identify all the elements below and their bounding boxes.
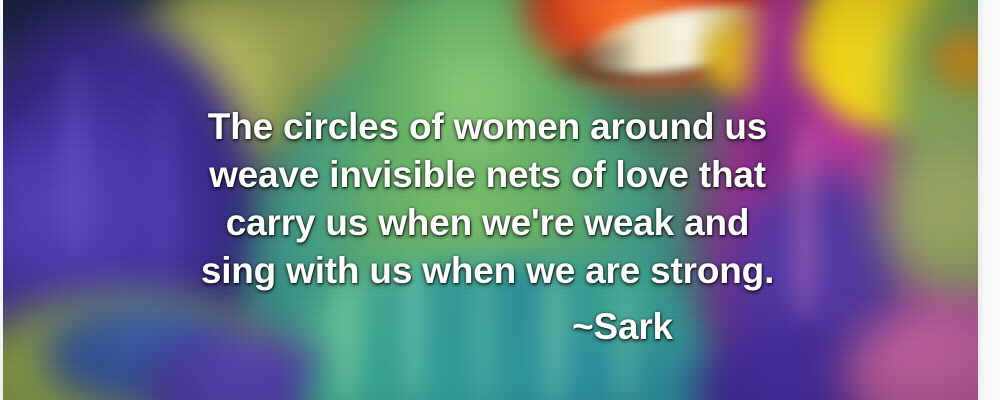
quote-attribution: ~Sark (0, 306, 975, 348)
quote-line: sing with us when we are strong. (0, 250, 975, 292)
border-left (0, 0, 3, 400)
quote-line: The circles of women around us (0, 106, 975, 148)
quote-image: The circles of women around us weave inv… (0, 0, 1000, 400)
quote-line: weave invisible nets of love that (0, 154, 975, 196)
quote-line: carry us when we're weak and (0, 202, 975, 244)
border-right (978, 0, 1000, 400)
